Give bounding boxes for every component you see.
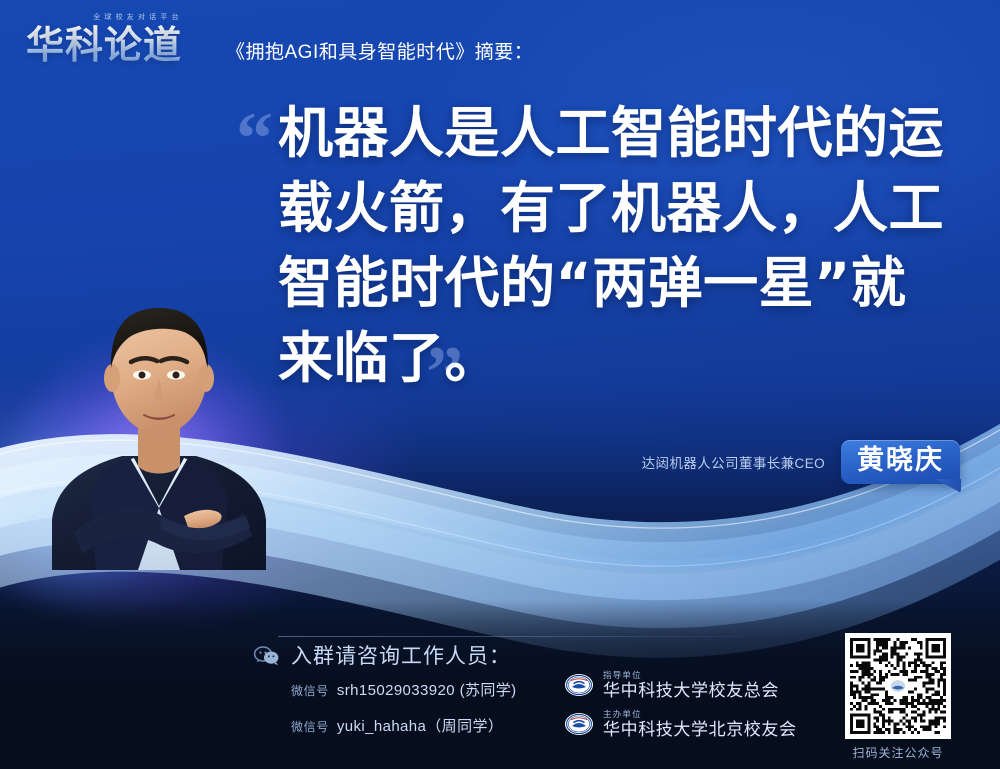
hust-seal-icon — [564, 670, 594, 700]
organization-kind: 指导单位 — [603, 671, 779, 680]
brand-logo[interactable]: 全球校友对话平台 华科论道 — [26, 12, 222, 70]
speaker-name-badge: 黄晓庆 — [841, 440, 960, 484]
quote-text: 机器人是人工智能时代的运载火箭，有了机器人，人工智能时代的“两弹一星”就来临了。 — [278, 96, 958, 396]
logo-wordmark: 华科论道 — [26, 22, 222, 68]
organization-row: 主办单位 华中科技大学北京校友会 — [564, 709, 797, 739]
contact-row-1: 微信号 srh15029033920 (苏同学) — [291, 679, 517, 700]
qr-code[interactable] — [845, 633, 951, 739]
organization-row: 指导单位 华中科技大学校友总会 — [564, 670, 797, 700]
wechat-icon — [254, 645, 280, 667]
organization-name: 华中科技大学校友总会 — [603, 682, 779, 699]
organization-text: 主办单位 华中科技大学北京校友会 — [603, 710, 797, 739]
quote-close-mark: ” — [426, 336, 463, 410]
organization-name: 华中科技大学北京校友会 — [603, 721, 797, 738]
quote-open-mark: “ — [236, 102, 273, 176]
organization-kind: 主办单位 — [603, 710, 797, 719]
page-title: 《拥抱AGI和具身智能时代》摘要： — [226, 38, 533, 68]
footer-separator — [278, 636, 773, 637]
organization-list: 指导单位 华中科技大学校友总会 主办单位 华中科技大学北京校友会 — [564, 670, 797, 739]
contact-label: 微信号 — [291, 718, 329, 735]
poster-canvas: 全球校友对话平台 华科论道 《拥抱AGI和具身智能时代》摘要： “ 机器人是人工… — [0, 0, 1000, 769]
speaker-role: 达闼机器人公司董事长兼CEO — [642, 452, 825, 472]
hust-seal-icon — [564, 709, 594, 739]
contact-row-2: 微信号 yuki_hahaha（周同学） — [291, 715, 503, 736]
qr-caption: 扫码关注公众号 — [845, 744, 951, 761]
contact-label: 微信号 — [291, 682, 329, 699]
attribution: 达闼机器人公司董事长兼CEO 黄晓庆 — [560, 440, 960, 484]
organization-text: 指导单位 华中科技大学校友总会 — [603, 671, 779, 700]
header: 全球校友对话平台 华科论道 《拥抱AGI和具身智能时代》摘要： — [0, 0, 1000, 88]
join-title: 入群请咨询工作人员： — [291, 640, 511, 670]
contact-value[interactable]: srh15029033920 (苏同学) — [337, 679, 517, 700]
contact-value[interactable]: yuki_hahaha（周同学） — [337, 715, 503, 736]
speaker-portrait — [34, 270, 284, 570]
